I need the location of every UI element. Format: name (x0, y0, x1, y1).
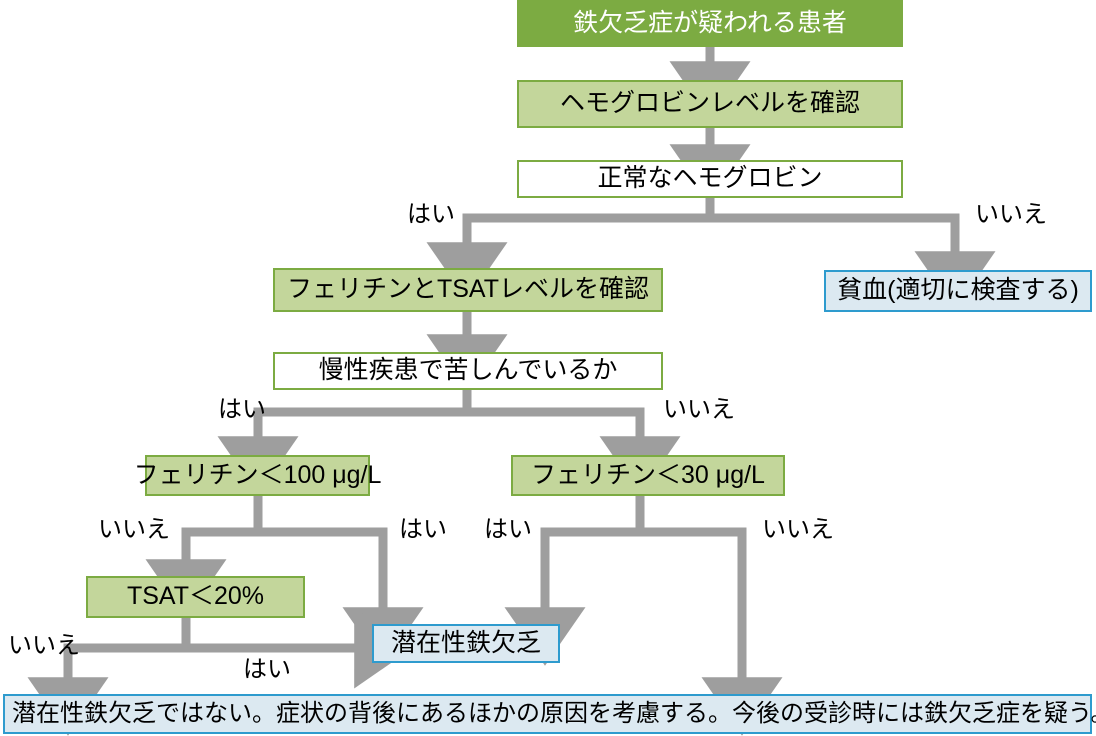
edge-label-ferritin30-no: いいえ (762, 518, 834, 542)
edge-label-ferritin100-no: いいえ (98, 518, 170, 542)
node-normal-hemoglobin: 正常なヘモグロビン (517, 160, 903, 198)
edge-fer30-yes (545, 495, 640, 618)
node-label: TSAT＜20% (127, 583, 264, 611)
node-label: フェリチン＜100 μg/L (134, 462, 382, 490)
node-not-latent-iron-deficiency-banner: 潜在性鉄欠乏ではない。症状の背後にあるほかの原因を考慮する。今後の受診時には鉄欠… (3, 694, 1092, 734)
node-label: 慢性疾患で苦しんでいるか (319, 357, 618, 385)
node-anemia-investigate: 貧血(適切に検査する) (824, 270, 1092, 312)
edge-label-ferritin30-yes: はい (484, 518, 532, 542)
node-chronic-disease: 慢性疾患で苦しんでいるか (273, 352, 663, 390)
node-check-hemoglobin-level: ヘモグロビンレベルを確認 (517, 80, 903, 128)
edge-normal-hb-no (710, 218, 955, 262)
node-label: フェリチン＜30 μg/L (531, 462, 765, 490)
node-ferritin-lt-100: フェリチン＜100 μg/L (145, 455, 370, 496)
edge-chronic-yes (258, 390, 467, 447)
flowchart-canvas: 鉄欠乏症が疑われる患者 ヘモグロビンレベルを確認 正常なヘモグロビン 貧血(適切… (0, 0, 1096, 736)
edge-label-tsat-yes: はい (243, 658, 291, 682)
node-label: 潜在性鉄欠乏 (391, 630, 541, 658)
edge-label-chronic-no: いいえ (663, 398, 735, 422)
edge-label-tsat-no: いいえ (8, 634, 80, 658)
edge-label-ferritin100-yes: はい (399, 518, 447, 542)
node-label: 貧血(適切に検査する) (837, 277, 1079, 305)
node-label: フェリチンとTSATレベルを確認 (287, 276, 649, 304)
node-tsat-lt-20: TSAT＜20% (86, 576, 305, 618)
edge-normal-hb-yes (467, 198, 710, 253)
node-label: 正常なヘモグロビン (597, 165, 822, 193)
edge-tsat-yes (186, 618, 365, 648)
edge-tsat-no (68, 648, 186, 688)
edge-label-hemoglobin-no: いいえ (975, 203, 1047, 227)
node-label: 潜在性鉄欠乏ではない。症状の背後にあるほかの原因を考慮する。今後の受診時には鉄欠… (12, 701, 1096, 727)
node-label: ヘモグロビンレベルを確認 (560, 90, 860, 118)
edge-label-chronic-yes: はい (218, 398, 266, 422)
edge-chronic-no (467, 412, 640, 447)
node-latent-iron-deficiency: 潜在性鉄欠乏 (372, 624, 560, 663)
node-suspected-iron-deficiency: 鉄欠乏症が疑われる患者 (517, 0, 903, 47)
edge-label-hemoglobin-yes: はい (407, 203, 455, 227)
node-ferritin-lt-30: フェリチン＜30 μg/L (511, 455, 785, 496)
edge-fer100-no (186, 495, 258, 570)
node-check-ferritin-tsat: フェリチンとTSATレベルを確認 (273, 268, 663, 312)
node-label: 鉄欠乏症が疑われる患者 (573, 10, 847, 38)
edge-fer30-no (640, 532, 742, 688)
